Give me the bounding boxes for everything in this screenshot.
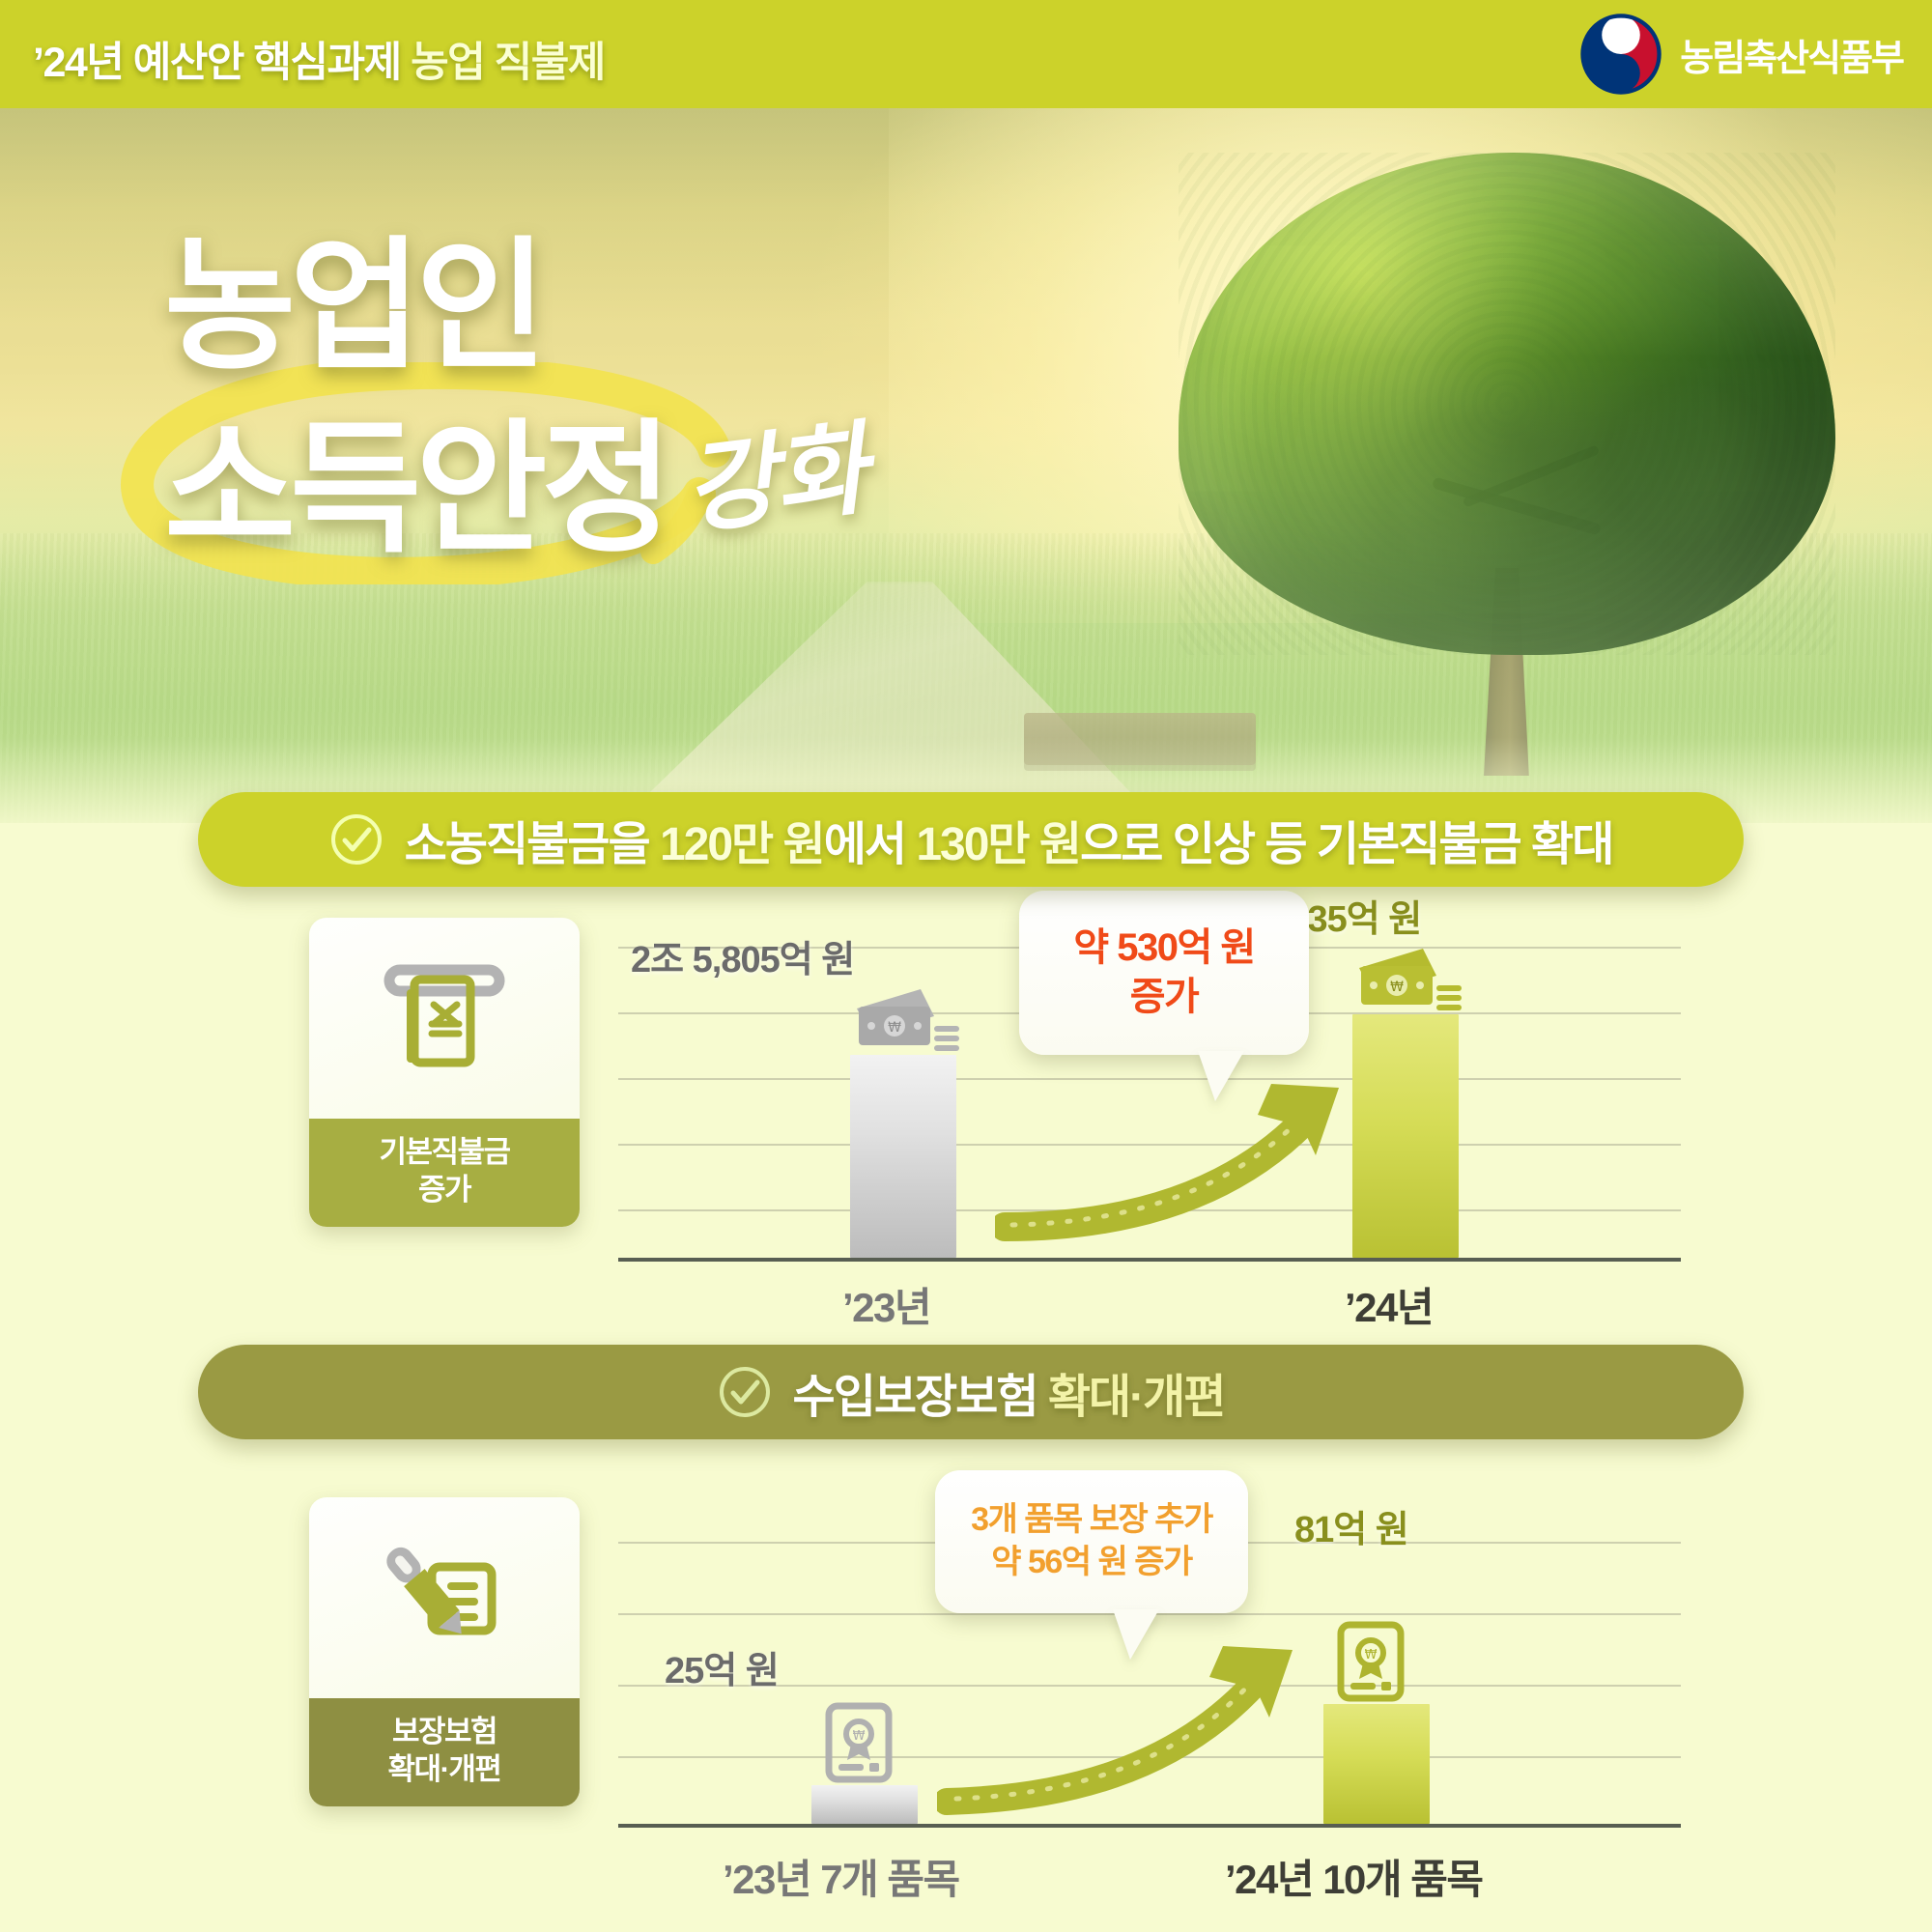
taegeuk-icon [1579,13,1662,96]
check-circle-icon [329,812,384,867]
chart-gridline [618,1209,1681,1211]
icon-card-graphic [309,1497,580,1698]
svg-text:₩: ₩ [1365,1648,1378,1662]
ministry-name: 농림축산식품부 [1680,28,1903,81]
chart-axis-line [618,1824,1681,1828]
bar-value-2023-basic: 2조 5,805억 원 [631,929,854,982]
icon-card-income-insurance: 보장보험 확대·개편 [309,1497,580,1806]
section-banner-income-insurance: 수입보장보험 확대·개편 [198,1345,1744,1439]
chart-section-income-insurance: 보장보험 확대·개편 25억 원 ₩ 81억 원 [0,1478,1932,1893]
svg-text:₩: ₩ [888,1020,901,1036]
government-logo: 농림축산식품부 [1579,12,1903,97]
callout-basic-payment: 약 530억 원 증가 [1019,891,1309,1055]
hero-banner: 농업인 소득안정 강화 [0,108,1932,823]
banner1-tail: 으로 인상 등 기본직불금 확대 [1080,819,1612,870]
banner2-highlight1: 확대·개편 [1048,1372,1225,1423]
chart-gridline [618,1756,1681,1758]
axis-label-2024-insurance: ’24년 10개 품목 [1225,1847,1483,1906]
bar-2024-insurance [1323,1704,1430,1824]
icon-card-label-l1: 보장보험 [392,1715,497,1748]
banner2-part1: 수입보장보험 [793,1372,1048,1423]
page-title-plain: ’24년 예산안 핵심과제 [33,40,411,86]
section-banner-basic-payment: 소농직불금을 120만 원에서 130만 원으로 인상 등 기본직불금 확대 [198,792,1744,887]
callout-line1: 약 530억 원 [1073,923,1254,973]
svg-text:₩: ₩ [853,1729,866,1744]
check-circle-icon [718,1365,772,1419]
icon-card-label-l2: 확대·개편 [388,1752,501,1786]
atm-cash-withdrawal-icon [372,951,517,1086]
banner1-mid: 에서 [824,819,917,870]
banner1-highlight1: 120만 원 [660,819,824,870]
bar-value-2024-insurance: 81억 원 [1294,1499,1408,1552]
field-cart [1024,713,1256,765]
svg-text:₩: ₩ [1390,980,1404,995]
banknote-icon: ₩ [845,983,963,1059]
icon-card-label-income-insurance: 보장보험 확대·개편 [309,1698,580,1806]
chart-gridline [618,1078,1681,1080]
icon-card-basic-payment: 기본직불금 증가 [309,918,580,1227]
banner1-highlight2: 130만 원 [916,819,1080,870]
chart-axis-line [618,1258,1681,1262]
axis-label-2024-basic: ’24년 [1345,1275,1433,1334]
callout-line2: 약 56억 원 증가 [991,1542,1192,1584]
hero-title-line2: 소득안정 [164,414,668,564]
pen-document-icon [372,1530,517,1665]
banner-text-basic-payment: 소농직불금을 120만 원에서 130만 원으로 인상 등 기본직불금 확대 [405,806,1613,873]
hero-title-block: 농업인 소득안정 강화 [164,232,864,564]
callout-income-insurance: 3개 품목 보장 추가 약 56억 원 증가 [935,1470,1248,1613]
icon-card-label-basic-payment: 기본직불금 증가 [309,1119,580,1227]
page-title: ’24년 예산안 핵심과제 농업 직불제 [33,29,605,89]
bar-chart-income-insurance: 25억 원 ₩ 81억 원 ₩ 3개 품목 [618,1478,1681,1884]
bar-2024-basic [1352,1014,1459,1258]
callout-tail [1198,1051,1244,1101]
infographic-page: ’24년 예산안 핵심과제 농업 직불제 농림축산식품부 농업인 [0,0,1932,1932]
bar-chart-basic-payment: 2조 5,805억 원 ₩ 2조 6,335억 원 ₩ [618,908,1681,1294]
icon-card-graphic [309,918,580,1119]
chart-gridline [618,1144,1681,1146]
tree-illustration [1140,153,1874,790]
tree-canopy [1179,153,1835,655]
bar-2023-basic [850,1055,956,1258]
callout-tail [1113,1609,1159,1660]
callout-line1: 3개 품목 보장 추가 [971,1499,1212,1542]
insurance-certificate-icon: ₩ [823,1702,906,1787]
callout-line2: 증가 [1130,973,1199,1022]
bar-2023-insurance [811,1785,918,1824]
banner1-part1: 소농직불금을 [405,819,660,870]
page-title-accent: 농업 직불제 [411,40,605,86]
growth-arrow-icon [937,1642,1352,1816]
axis-label-2023-insurance: ’23년 7개 품목 [723,1847,959,1906]
hero-title-handwritten: 강화 [674,387,871,554]
hero-title-line1: 농업인 [164,232,864,382]
chart-section-basic-payment: 기본직불금 증가 2조 5,805억 원 ₩ [0,908,1932,1314]
insurance-certificate-icon: ₩ [1335,1621,1418,1706]
axis-label-2023-basic: ’23년 [842,1275,930,1334]
icon-card-label-l2: 증가 [418,1173,470,1207]
bar-value-2023-insurance: 25억 원 [665,1640,779,1693]
icon-card-label-l1: 기본직불금 [379,1135,509,1169]
banknote-icon: ₩ [1348,943,1465,1018]
banner-text-income-insurance: 수입보장보험 확대·개편 [793,1358,1225,1426]
top-header-bar: ’24년 예산안 핵심과제 농업 직불제 농림축산식품부 [0,0,1932,108]
